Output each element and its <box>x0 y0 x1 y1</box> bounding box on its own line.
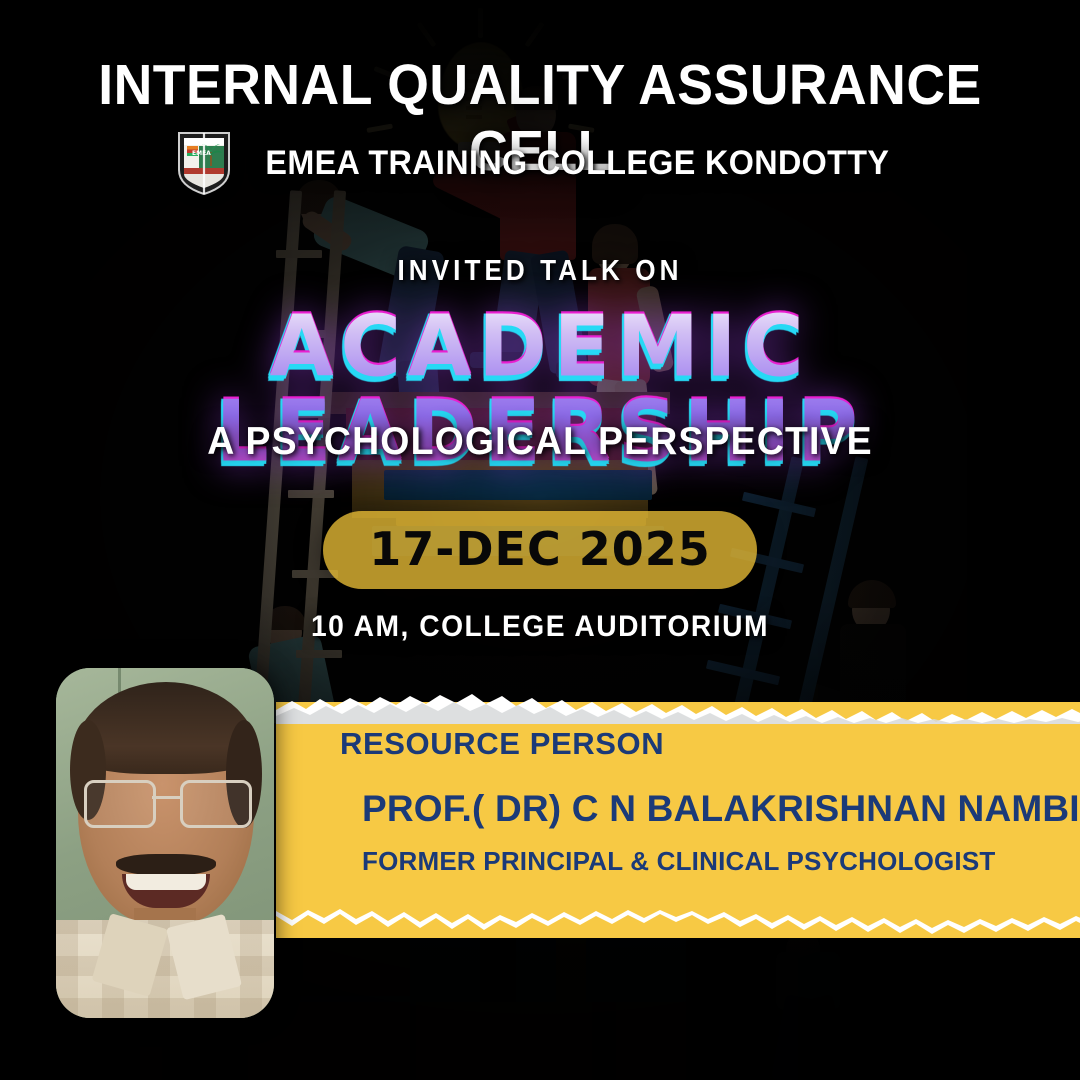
institution-row: EMEA EMEA TRAINING COLLEGE KONDOTTY <box>0 130 1080 196</box>
institution-name: EMEA TRAINING COLLEGE KONDOTTY <box>265 144 889 183</box>
eyeglasses-icon <box>84 780 248 822</box>
speaker-photo: speaker-portrait <box>56 668 274 1018</box>
resource-person-label: RESOURCE PERSON <box>340 726 1080 762</box>
speaker-info: RESOURCE PERSON PROF.( DR) C N BALAKRISH… <box>340 726 1080 877</box>
speaker-role: FORMER PRINCIPAL & CLINICAL PSYCHOLOGIST <box>362 846 1080 877</box>
crest-text: EMEA <box>192 150 211 157</box>
speaker-name: PROF.( DR) C N BALAKRISHNAN NAMBIAR <box>362 788 1080 830</box>
event-kicker: INVITED TALK ON <box>54 255 1026 288</box>
poster-canvas: INTERNAL QUALITY ASSURANCE CELL <box>0 0 1080 1080</box>
torn-edge-top-icon <box>276 690 1080 724</box>
emea-shield-crest-icon: EMEA <box>175 130 233 196</box>
date-badge-wrap: 17-DEC 2025 <box>0 511 1080 589</box>
venue-time: 10 AM, COLLEGE AUDITORIUM <box>32 610 1047 644</box>
date-badge: 17-DEC 2025 <box>323 511 757 589</box>
torn-edge-bottom-icon <box>276 906 1080 940</box>
event-tagline: A PSYCHOLOGICAL PERSPECTIVE <box>22 420 1059 464</box>
